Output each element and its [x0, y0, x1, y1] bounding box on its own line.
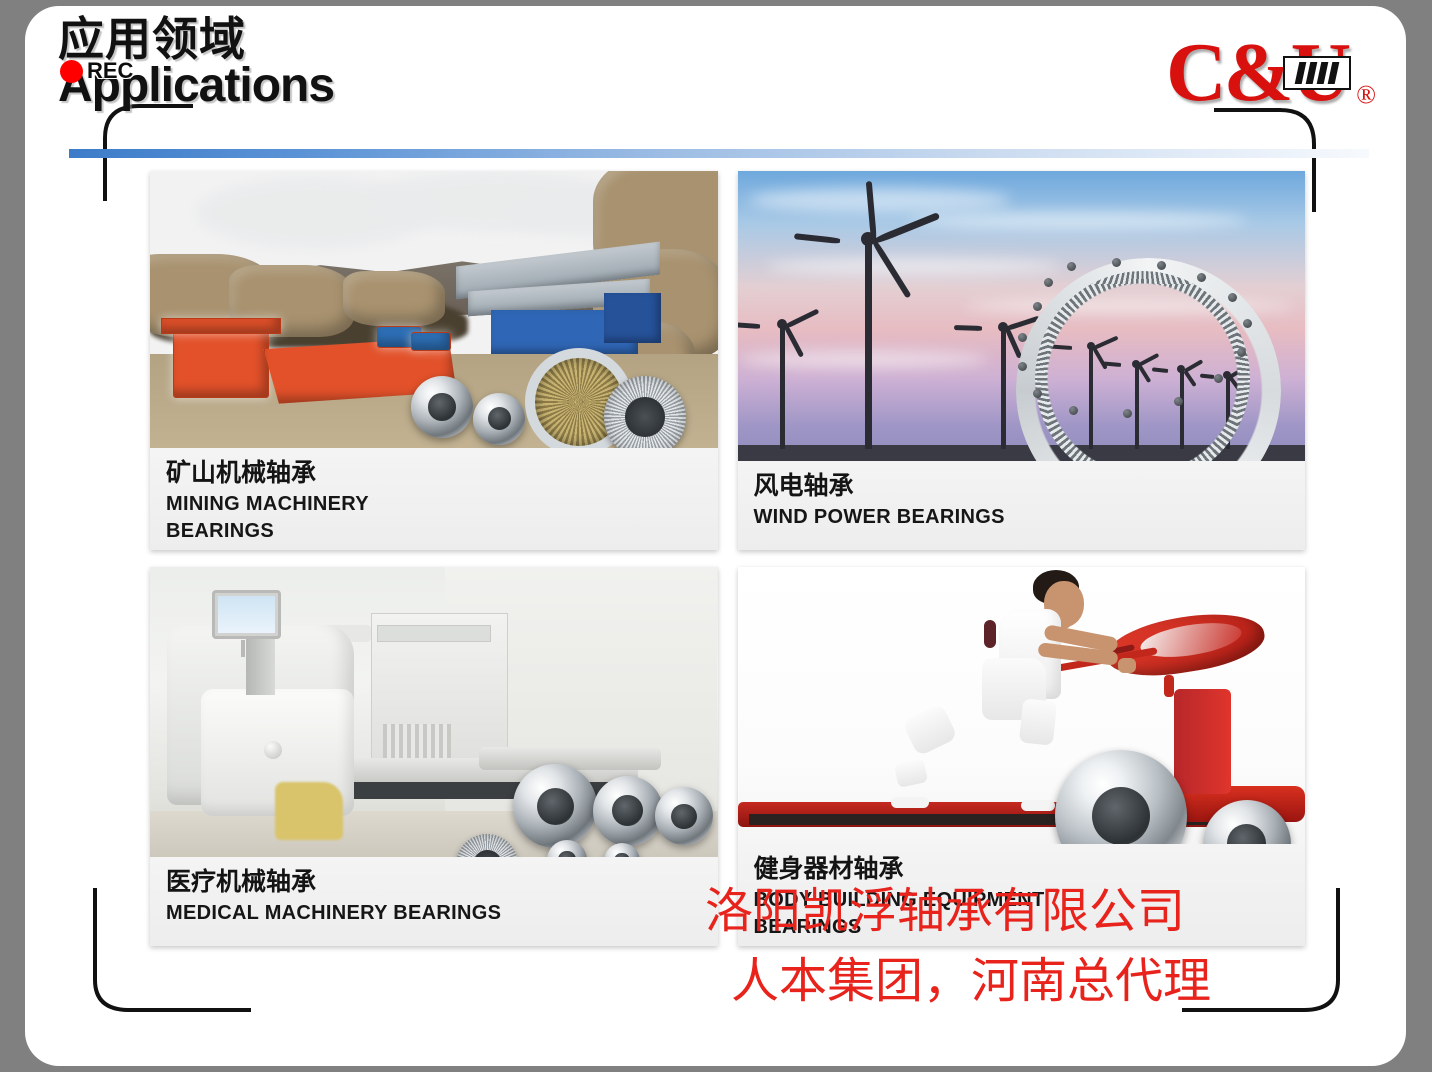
page-title-en: Applications [58, 60, 818, 112]
applications-grid: 矿山机械轴承 MINING MACHINERY BEARINGS [150, 171, 1305, 946]
blue-accent-rule [69, 149, 1369, 158]
bearing-icon [513, 764, 597, 848]
card-title-cn: 健身器材轴承 [754, 852, 1290, 886]
application-card-medical[interactable]: 医疗机械轴承 MEDICAL MACHINERY BEARINGS [150, 567, 718, 946]
slide-header: 应用领域 Applications [58, 14, 818, 139]
taper-bearing-icon [604, 376, 686, 448]
presentation-slide: 应用领域 Applications REC C&U ® [25, 6, 1406, 1066]
record-dot-icon [60, 60, 83, 83]
recording-indicator: REC [60, 58, 133, 84]
card-title-en-line1: MINING MACHINERY [166, 492, 702, 517]
page-title-cn: 应用领域 [58, 14, 818, 64]
card-caption: 医疗机械轴承 MEDICAL MACHINERY BEARINGS [150, 857, 718, 946]
registered-trademark-icon: ® [1356, 80, 1376, 110]
wind-power-photo [738, 171, 1306, 461]
bearing-icon [411, 376, 473, 438]
card-caption: 风电轴承 WIND POWER BEARINGS [738, 461, 1306, 550]
medical-machinery-photo [150, 567, 718, 857]
logo-bars-icon [1283, 56, 1351, 90]
application-card-wind[interactable]: 风电轴承 WIND POWER BEARINGS [738, 171, 1306, 550]
card-caption: 矿山机械轴承 MINING MACHINERY BEARINGS [150, 448, 718, 550]
bearing-icon [593, 776, 663, 846]
card-title-cn: 风电轴承 [754, 469, 1290, 503]
bearing-icon [473, 393, 525, 445]
mining-machinery-photo [150, 171, 718, 448]
application-card-mining[interactable]: 矿山机械轴承 MINING MACHINERY BEARINGS [150, 171, 718, 550]
card-title-en-line1: MEDICAL MACHINERY BEARINGS [166, 901, 702, 926]
card-title-cn: 矿山机械轴承 [166, 456, 702, 490]
watermark-line-2: 人本集团，河南总代理 [731, 946, 1265, 1016]
body-building-equipment-photo [738, 567, 1306, 844]
card-title-en-line1: WIND POWER BEARINGS [754, 505, 1290, 530]
card-title-en-line2: BEARINGS [166, 519, 702, 544]
card-title-en-line2: BEARINGS [754, 915, 1290, 940]
card-caption: 健身器材轴承 BODY BUILDING EQUIPMENT BEARINGS [738, 844, 1306, 946]
application-card-fitness[interactable]: 健身器材轴承 BODY BUILDING EQUIPMENT BEARINGS [738, 567, 1306, 946]
card-title-en-line1: BODY BUILDING EQUIPMENT [754, 888, 1290, 913]
company-logo: C&U ® [1166, 34, 1376, 112]
record-label: REC [87, 58, 133, 84]
logo-wordmark: C&U [1166, 34, 1348, 112]
card-title-cn: 医疗机械轴承 [166, 865, 702, 899]
